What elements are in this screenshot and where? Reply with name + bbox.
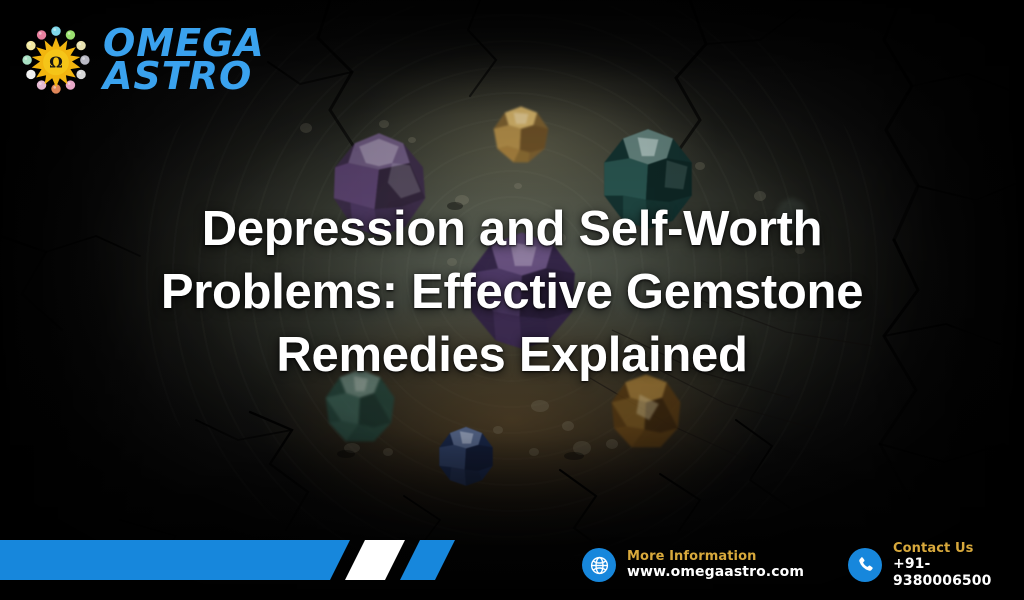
svg-text:Ω: Ω xyxy=(49,54,63,72)
footer-accent-stripes xyxy=(0,530,470,600)
contact-title-phone: Contact Us xyxy=(893,541,1024,556)
contact-text-website: More Information www.omegaastro.com xyxy=(627,549,804,581)
blue-slash-small xyxy=(400,540,455,580)
globe-icon xyxy=(582,548,616,582)
gem-citrine-top xyxy=(489,104,553,166)
contact-value-phone: +91-9380006500 xyxy=(893,556,1024,589)
phone-icon xyxy=(848,548,882,582)
blue-stripe-main xyxy=(0,540,350,580)
white-slash xyxy=(345,540,405,580)
site-logo[interactable]: Ω OMEGA ASTRO xyxy=(18,22,265,98)
blog-banner: Ω OMEGA ASTRO Depression and Self-Worth … xyxy=(0,0,1024,600)
page-title: Depression and Self-Worth Problems: Effe… xyxy=(0,198,1024,387)
contact-item-phone[interactable]: Contact Us +91-9380006500 xyxy=(848,541,1024,589)
page-title-line-3: Remedies Explained xyxy=(60,324,964,387)
logo-wordmark: OMEGA ASTRO xyxy=(103,27,265,94)
gem-sapphire-bottom xyxy=(435,425,497,487)
page-title-line-1: Depression and Self-Worth xyxy=(60,198,964,261)
footer-bar: More Information www.omegaastro.com Cont… xyxy=(0,530,1024,600)
logo-line-2: ASTRO xyxy=(103,60,265,93)
footer-contact-list: More Information www.omegaastro.com Cont… xyxy=(582,530,1024,600)
contact-value-website: www.omegaastro.com xyxy=(627,564,804,581)
omega-sun-gem-ring-icon: Ω xyxy=(18,22,94,98)
contact-title-website: More Information xyxy=(627,549,804,564)
page-title-line-2: Problems: Effective Gemstone xyxy=(60,261,964,324)
contact-item-website[interactable]: More Information www.omegaastro.com xyxy=(582,548,804,582)
contact-text-phone: Contact Us +91-9380006500 xyxy=(893,541,1024,589)
